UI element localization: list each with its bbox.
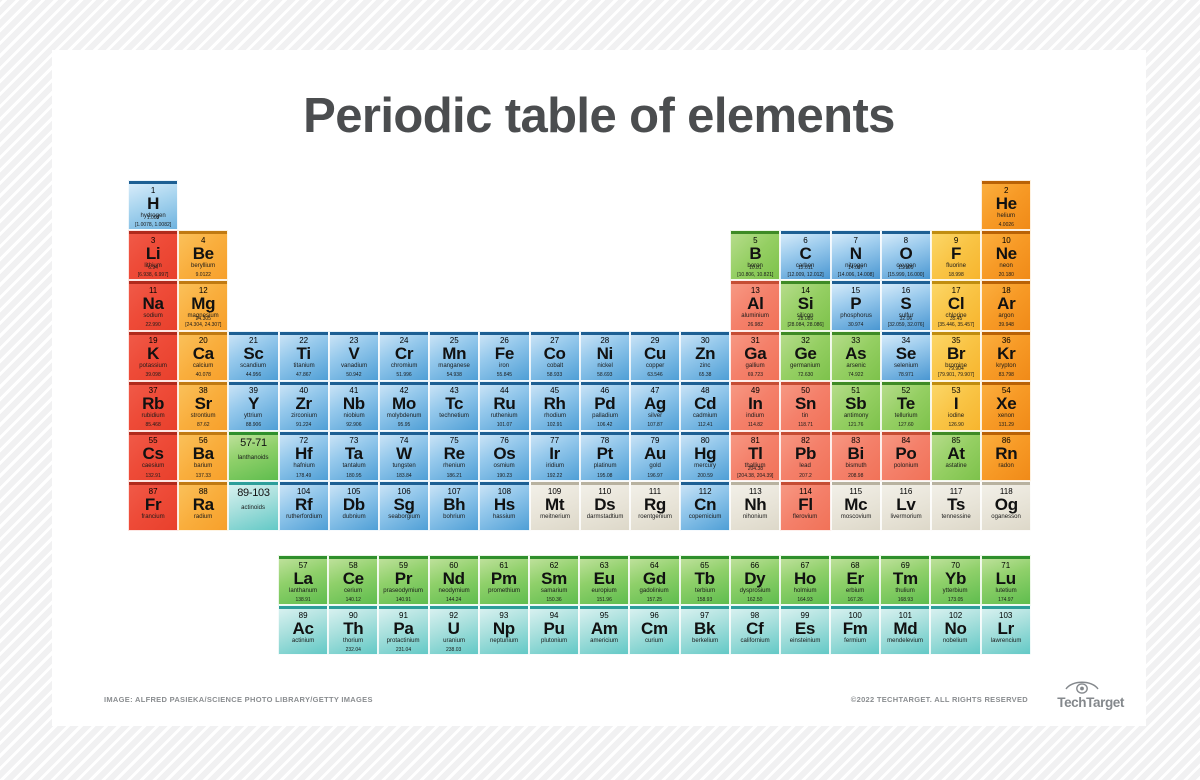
element-symbol: Sn bbox=[795, 395, 816, 412]
element-symbol: Ti bbox=[297, 345, 311, 362]
element-symbol: Rg bbox=[644, 496, 666, 513]
element-name: aluminium bbox=[732, 313, 778, 319]
standard-atomic-weight: 132.91 bbox=[129, 474, 177, 479]
standard-atomic-weight: 20.180 bbox=[982, 273, 1030, 278]
element-name: promethium bbox=[481, 588, 527, 594]
element-cell-Es[interactable]: 99Eseinsteinium bbox=[780, 605, 830, 655]
element-cell-Al[interactable]: 13Alaluminium26.982 bbox=[730, 280, 780, 330]
element-name: plutonium bbox=[531, 638, 577, 644]
standard-atomic-weight: 63.546 bbox=[631, 373, 679, 378]
element-cell-Ag[interactable]: 47Agsilver107.87 bbox=[630, 381, 680, 431]
element-symbol: Eu bbox=[594, 570, 615, 587]
element-cell-Tc[interactable]: 43Tctechnetium bbox=[429, 381, 479, 431]
element-symbol: Fr bbox=[145, 496, 161, 513]
element-name: zinc bbox=[682, 363, 728, 369]
element-symbol: Db bbox=[343, 496, 365, 513]
element-symbol: V bbox=[348, 345, 359, 362]
element-symbol: Rf bbox=[295, 496, 312, 513]
element-cell-Bh[interactable]: 107Bhbohrium bbox=[429, 481, 479, 531]
element-symbol: Bk bbox=[694, 620, 715, 637]
element-name: nobelium bbox=[932, 638, 978, 644]
element-cell-Hf[interactable]: 72Hfhafnium178.49 bbox=[279, 431, 329, 481]
standard-atomic-weight: 88.906 bbox=[229, 423, 277, 428]
element-name: caesium bbox=[130, 464, 176, 470]
element-symbol: Ge bbox=[794, 345, 816, 362]
element-symbol: Dy bbox=[744, 570, 765, 587]
element-cell-Tm[interactable]: 69Tmthulium168.93 bbox=[880, 555, 930, 605]
element-name: osmium bbox=[481, 464, 527, 470]
standard-atomic-weight: 173.05 bbox=[931, 598, 979, 603]
element-cell-Co[interactable]: 27Cocobalt58.933 bbox=[530, 331, 580, 381]
element-symbol: Ga bbox=[744, 345, 766, 362]
element-cell-Cr[interactable]: 24Crchromium51.996 bbox=[379, 331, 429, 381]
standard-atomic-weight: 195.08 bbox=[581, 474, 629, 479]
standard-atomic-weight: 51.996 bbox=[380, 373, 428, 378]
element-cell-Lr[interactable]: 103Lrlawrencium bbox=[981, 605, 1031, 655]
element-name: protactinium bbox=[380, 638, 426, 644]
element-cell-Hg[interactable]: 80Hgmercury200.59 bbox=[680, 431, 730, 481]
standard-atomic-weight: 126.90 bbox=[932, 423, 980, 428]
element-symbol: Fm bbox=[843, 620, 868, 637]
series-placeholder-actinoids[interactable]: 89-103actinoids bbox=[228, 481, 278, 531]
element-name: nickel bbox=[582, 363, 628, 369]
standard-atomic-weight: 200.59 bbox=[681, 474, 729, 479]
element-cell-Pa[interactable]: 91Paprotactinium231.04 bbox=[378, 605, 428, 655]
element-symbol: Ac bbox=[293, 620, 314, 637]
element-cell-P[interactable]: 15Pphosphorus30.974 bbox=[831, 280, 881, 330]
element-cell-Sc[interactable]: 21Scscandium44.956 bbox=[228, 331, 278, 381]
element-name: iron bbox=[481, 363, 527, 369]
element-cell-Sm[interactable]: 62Smsamarium150.36 bbox=[529, 555, 579, 605]
element-cell-Pr[interactable]: 59Prpraseodymium140.91 bbox=[378, 555, 428, 605]
element-cell-K[interactable]: 19Kpotassium39.098 bbox=[128, 331, 178, 381]
element-cell-Zn[interactable]: 30Znzinc65.38 bbox=[680, 331, 730, 381]
atomic-weight-interval: [79.901, 79.907] bbox=[932, 373, 980, 378]
element-cell-Sr[interactable]: 38Srstrontium87.62 bbox=[178, 381, 228, 431]
atomic-number-range: 89-103 bbox=[237, 488, 269, 499]
standard-atomic-weight: 150.36 bbox=[530, 598, 578, 603]
element-cell-Y[interactable]: 39Yyttrium88.906 bbox=[228, 381, 278, 431]
element-cell-Rh[interactable]: 45Rhrhodium102.91 bbox=[530, 381, 580, 431]
element-cell-Si[interactable]: 14Sisilicon28.085[28.084, 28.086] bbox=[780, 280, 830, 330]
element-name: erbium bbox=[832, 588, 878, 594]
element-cell-In[interactable]: 49Inindium114.82 bbox=[730, 381, 780, 431]
element-name: fluorine bbox=[933, 263, 979, 269]
element-symbol: Li bbox=[146, 245, 161, 262]
element-cell-Rn[interactable]: 86Rnradon bbox=[981, 431, 1031, 481]
element-cell-Mt[interactable]: 109Mtmeitnerium bbox=[530, 481, 580, 531]
element-symbol: Tl bbox=[748, 445, 763, 462]
element-symbol: Po bbox=[895, 445, 916, 462]
element-cell-Og[interactable]: 118Ogoganesson bbox=[981, 481, 1031, 531]
element-cell-Nh[interactable]: 113Nhnihonium bbox=[730, 481, 780, 531]
element-cell-Br[interactable]: 35Brbromine79.904[79.901, 79.907] bbox=[931, 331, 981, 381]
element-symbol: Na bbox=[143, 295, 164, 312]
element-name: holmium bbox=[782, 588, 828, 594]
element-cell-Np[interactable]: 93Npneptunium bbox=[479, 605, 529, 655]
element-cell-Fm[interactable]: 100Fmfermium bbox=[830, 605, 880, 655]
element-name: terbium bbox=[681, 588, 727, 594]
element-symbol: Pm bbox=[491, 570, 517, 587]
element-name: mercury bbox=[682, 464, 728, 470]
element-symbol: Ar bbox=[997, 295, 1015, 312]
element-cell-Se[interactable]: 34Seselenium78.971 bbox=[881, 331, 931, 381]
element-name: thorium bbox=[330, 638, 376, 644]
element-cell-At[interactable]: 85Atastatine bbox=[931, 431, 981, 481]
element-cell-Ds[interactable]: 110Dsdarmstadtium bbox=[580, 481, 630, 531]
element-cell-Fl[interactable]: 114Flflerovium bbox=[780, 481, 830, 531]
element-cell-Te[interactable]: 52Tetellurium127.60 bbox=[881, 381, 931, 431]
standard-atomic-weight: 204.38 bbox=[731, 467, 779, 472]
element-symbol: F bbox=[951, 245, 961, 262]
element-symbol: Kr bbox=[997, 345, 1015, 362]
element-cell-Pt[interactable]: 78Ptplatinum195.08 bbox=[580, 431, 630, 481]
element-cell-Eu[interactable]: 63Eueuropium151.96 bbox=[579, 555, 629, 605]
element-symbol: Y bbox=[248, 395, 259, 412]
element-cell-Bi[interactable]: 83Bibismuth208.98 bbox=[831, 431, 881, 481]
element-symbol: Sg bbox=[393, 496, 414, 513]
standard-atomic-weight: 144.24 bbox=[430, 598, 478, 603]
element-name: yttrium bbox=[230, 413, 276, 419]
standard-atomic-weight: 158.93 bbox=[681, 598, 729, 603]
element-symbol: Hg bbox=[694, 445, 716, 462]
element-name: radon bbox=[983, 464, 1029, 470]
standard-atomic-weight: 83.798 bbox=[982, 373, 1030, 378]
atomic-weight-interval: [28.084, 28.086] bbox=[781, 323, 829, 328]
element-cell-Yb[interactable]: 70Ybytterbium173.05 bbox=[930, 555, 980, 605]
element-cell-Ti[interactable]: 22Tititanium47.867 bbox=[279, 331, 329, 381]
element-cell-Ra[interactable]: 88Raradium bbox=[178, 481, 228, 531]
element-cell-Rg[interactable]: 111Rgroentgenium bbox=[630, 481, 680, 531]
atomic-weight-interval: [14.006, 14.008] bbox=[832, 273, 880, 278]
element-cell-He[interactable]: 2Hehelium4.0026 bbox=[981, 180, 1031, 230]
element-name: rubidium bbox=[130, 413, 176, 419]
element-cell-W[interactable]: 74Wtungsten183.84 bbox=[379, 431, 429, 481]
element-cell-Ni[interactable]: 28Ninickel58.693 bbox=[580, 331, 630, 381]
element-name: francium bbox=[130, 514, 176, 520]
element-name: actinium bbox=[280, 638, 326, 644]
element-symbol: Cu bbox=[644, 345, 666, 362]
element-name: dubnium bbox=[331, 514, 377, 520]
element-symbol: Cl bbox=[948, 295, 964, 312]
standard-atomic-weight: 78.971 bbox=[882, 373, 930, 378]
element-cell-Rf[interactable]: 104Rfrutherfordium bbox=[279, 481, 329, 531]
element-symbol: Ag bbox=[644, 395, 666, 412]
standard-atomic-weight: 85.468 bbox=[129, 423, 177, 428]
element-symbol: Os bbox=[493, 445, 515, 462]
element-name: calcium bbox=[180, 363, 226, 369]
standard-atomic-weight: 167.26 bbox=[831, 598, 879, 603]
element-cell-Xe[interactable]: 54Xexenon131.29 bbox=[981, 381, 1031, 431]
element-symbol: Ba bbox=[193, 445, 214, 462]
standard-atomic-weight: 50.942 bbox=[330, 373, 378, 378]
element-cell-B[interactable]: 5Bboron10.81[10.806, 10.821] bbox=[730, 230, 780, 280]
element-cell-Lu[interactable]: 71Lulutetium174.97 bbox=[981, 555, 1031, 605]
element-cell-Rb[interactable]: 37Rbrubidium85.468 bbox=[128, 381, 178, 431]
element-cell-Sn[interactable]: 50Sntin118.71 bbox=[780, 381, 830, 431]
element-name: manganese bbox=[431, 363, 477, 369]
series-label: lanthanoids bbox=[230, 455, 276, 461]
element-symbol: Pr bbox=[395, 570, 412, 587]
element-name: einsteinium bbox=[782, 638, 828, 644]
element-cell-Er[interactable]: 68Ererbium167.26 bbox=[830, 555, 880, 605]
element-cell-Ar[interactable]: 18Arargon39.948 bbox=[981, 280, 1031, 330]
element-cell-Sb[interactable]: 51Sbantimony121.76 bbox=[831, 381, 881, 431]
element-symbol: Mt bbox=[545, 496, 564, 513]
standard-atomic-weight: 208.98 bbox=[832, 474, 880, 479]
element-cell-Ne[interactable]: 10Neneon20.180 bbox=[981, 230, 1031, 280]
element-cell-N[interactable]: 7Nnitrogen14.007[14.006, 14.008] bbox=[831, 230, 881, 280]
element-cell-Ce[interactable]: 58Cecerium140.12 bbox=[328, 555, 378, 605]
element-cell-Bk[interactable]: 97Bkberkelium bbox=[680, 605, 730, 655]
element-name: radium bbox=[180, 514, 226, 520]
element-cell-Pd[interactable]: 46Pdpalladium106.42 bbox=[580, 381, 630, 431]
element-cell-I[interactable]: 53Iiodine126.90 bbox=[931, 381, 981, 431]
element-name: samarium bbox=[531, 588, 577, 594]
element-symbol: In bbox=[748, 395, 763, 412]
standard-atomic-weight: 91.224 bbox=[280, 423, 328, 428]
element-name: antimony bbox=[833, 413, 879, 419]
element-cell-Po[interactable]: 84Popolonium bbox=[881, 431, 931, 481]
element-symbol: H bbox=[147, 195, 159, 212]
standard-atomic-weight: 114.82 bbox=[731, 423, 779, 428]
element-cell-Ca[interactable]: 20Cacalcium40.078 bbox=[178, 331, 228, 381]
element-symbol: Te bbox=[897, 395, 915, 412]
element-symbol: Mc bbox=[844, 496, 867, 513]
element-name: selenium bbox=[883, 363, 929, 369]
standard-atomic-weight: 6.94 bbox=[129, 266, 177, 271]
element-cell-Tb[interactable]: 65Tbterbium158.93 bbox=[680, 555, 730, 605]
element-cell-Tl[interactable]: 81Tlthallium204.38[204.38, 204.39] bbox=[730, 431, 780, 481]
element-cell-Ac[interactable]: 89Acactinium bbox=[278, 605, 328, 655]
element-cell-Cs[interactable]: 55Cscaesium132.91 bbox=[128, 431, 178, 481]
element-name: rutherfordium bbox=[281, 514, 327, 520]
element-cell-Ru[interactable]: 44Ruruthenium101.07 bbox=[479, 381, 529, 431]
element-symbol: Pb bbox=[795, 445, 816, 462]
element-symbol: N bbox=[850, 245, 862, 262]
standard-atomic-weight: 106.42 bbox=[581, 423, 629, 428]
element-symbol: Md bbox=[893, 620, 917, 637]
standard-atomic-weight: 112.41 bbox=[681, 423, 729, 428]
element-symbol: Gd bbox=[643, 570, 666, 587]
element-cell-Pm[interactable]: 61Pmpromethium bbox=[479, 555, 529, 605]
element-symbol: Ds bbox=[594, 496, 615, 513]
element-cell-Th[interactable]: 90Ththorium232.04 bbox=[328, 605, 378, 655]
element-name: lanthanum bbox=[280, 588, 326, 594]
standard-atomic-weight: 24.305 bbox=[179, 317, 227, 322]
element-name: phosphorus bbox=[833, 313, 879, 319]
standard-atomic-weight: 14.007 bbox=[832, 266, 880, 271]
element-cell-V[interactable]: 23Vvanadium50.942 bbox=[329, 331, 379, 381]
element-cell-Md[interactable]: 101Mdmendelevium bbox=[880, 605, 930, 655]
standard-atomic-weight: 35.45 bbox=[932, 317, 980, 322]
element-symbol: Zn bbox=[695, 345, 715, 362]
element-cell-U[interactable]: 92Uuranium238.03 bbox=[429, 605, 479, 655]
standard-atomic-weight: 92.906 bbox=[330, 423, 378, 428]
atomic-weight-interval: [1.0078, 1.0082] bbox=[129, 223, 177, 228]
element-cell-Kr[interactable]: 36Krkrypton83.798 bbox=[981, 331, 1031, 381]
element-symbol: Cr bbox=[395, 345, 413, 362]
element-cell-Cu[interactable]: 29Cucopper63.546 bbox=[630, 331, 680, 381]
standard-atomic-weight: 30.974 bbox=[832, 323, 880, 328]
standard-atomic-weight: 28.085 bbox=[781, 317, 829, 322]
element-name: fermium bbox=[832, 638, 878, 644]
standard-atomic-weight: 44.956 bbox=[229, 373, 277, 378]
element-cell-Cd[interactable]: 48Cdcadmium112.41 bbox=[680, 381, 730, 431]
element-cell-Lv[interactable]: 116Lvlivermorium bbox=[881, 481, 931, 531]
element-cell-Cl[interactable]: 17Clchlorine35.45[35.446, 35.457] bbox=[931, 280, 981, 330]
element-name: indium bbox=[732, 413, 778, 419]
element-cell-Ge[interactable]: 32Gegermanium72.630 bbox=[780, 331, 830, 381]
element-cell-La[interactable]: 57Lalanthanum138.91 bbox=[278, 555, 328, 605]
element-symbol: Sb bbox=[845, 395, 866, 412]
element-name: arsenic bbox=[833, 363, 879, 369]
element-symbol: S bbox=[900, 295, 911, 312]
element-name: thulium bbox=[882, 588, 928, 594]
standard-atomic-weight: 238.03 bbox=[430, 648, 478, 653]
element-cell-F[interactable]: 9Ffluorine18.998 bbox=[931, 230, 981, 280]
element-cell-C[interactable]: 6Ccarbon12.011[12.009, 12.012] bbox=[780, 230, 830, 280]
standard-atomic-weight: 118.71 bbox=[781, 423, 829, 428]
element-cell-Am[interactable]: 95Amamericium bbox=[579, 605, 629, 655]
element-name: americium bbox=[581, 638, 627, 644]
element-cell-Dy[interactable]: 66Dydysprosium162.50 bbox=[730, 555, 780, 605]
element-cell-Ta[interactable]: 73Tatantalum180.95 bbox=[329, 431, 379, 481]
element-cell-Ga[interactable]: 31Gagallium69.723 bbox=[730, 331, 780, 381]
element-cell-Be[interactable]: 4Beberyllium9.0122 bbox=[178, 230, 228, 280]
element-symbol: Ta bbox=[345, 445, 363, 462]
element-symbol: Br bbox=[947, 345, 965, 362]
element-cell-Gd[interactable]: 64Gdgadolinium157.25 bbox=[629, 555, 679, 605]
element-cell-No[interactable]: 102Nonobelium bbox=[930, 605, 980, 655]
element-cell-Fe[interactable]: 26Feiron55.845 bbox=[479, 331, 529, 381]
standard-atomic-weight: 131.29 bbox=[982, 423, 1030, 428]
element-symbol: Mg bbox=[191, 295, 215, 312]
element-cell-As[interactable]: 33Asarsenic74.922 bbox=[831, 331, 881, 381]
element-name: polonium bbox=[883, 464, 929, 470]
standard-atomic-weight: 32.06 bbox=[882, 317, 930, 322]
element-symbol: Np bbox=[493, 620, 515, 637]
element-symbol: Sm bbox=[541, 570, 567, 587]
element-symbol: Cd bbox=[694, 395, 716, 412]
standard-atomic-weight: 140.12 bbox=[329, 598, 377, 603]
element-cell-Au[interactable]: 79Augold196.97 bbox=[630, 431, 680, 481]
element-cell-Db[interactable]: 105Dbdubnium bbox=[329, 481, 379, 531]
element-cell-O[interactable]: 8Ooxygen15.999[15.999, 16.000] bbox=[881, 230, 931, 280]
element-cell-Ho[interactable]: 67Hoholmium164.93 bbox=[780, 555, 830, 605]
series-placeholder-lanthanoids[interactable]: 57-71lanthanoids bbox=[228, 431, 278, 481]
standard-atomic-weight: 180.95 bbox=[330, 474, 378, 479]
element-cell-Cn[interactable]: 112Cncopernicium bbox=[680, 481, 730, 531]
element-cell-Nb[interactable]: 41Nbniobium92.906 bbox=[329, 381, 379, 431]
element-cell-H[interactable]: 1Hhydrogen1.008[1.0078, 1.0082] bbox=[128, 180, 178, 230]
element-name: barium bbox=[180, 464, 226, 470]
standard-atomic-weight: 72.630 bbox=[781, 373, 829, 378]
standard-atomic-weight: 15.999 bbox=[882, 266, 930, 271]
standard-atomic-weight: 18.998 bbox=[932, 273, 980, 278]
standard-atomic-weight: 178.49 bbox=[280, 474, 328, 479]
element-cell-Os[interactable]: 76Ososmium190.23 bbox=[479, 431, 529, 481]
element-cell-Cf[interactable]: 98Cfcalifornium bbox=[730, 605, 780, 655]
element-cell-Zr[interactable]: 40Zrzirconium91.224 bbox=[279, 381, 329, 431]
standard-atomic-weight: 1.008 bbox=[129, 216, 177, 221]
element-cell-Mo[interactable]: 42Momolybdenum95.95 bbox=[379, 381, 429, 431]
standard-atomic-weight: 121.76 bbox=[832, 423, 880, 428]
element-cell-Li[interactable]: 3Lilithium6.94[6.938, 6.997] bbox=[128, 230, 178, 280]
element-cell-Ir[interactable]: 77Iriridium192.22 bbox=[530, 431, 580, 481]
element-name: nihonium bbox=[732, 514, 778, 520]
element-name: hassium bbox=[481, 514, 527, 520]
element-cell-Ts[interactable]: 117Tstennessine bbox=[931, 481, 981, 531]
standard-atomic-weight: 39.098 bbox=[129, 373, 177, 378]
element-name: sodium bbox=[130, 313, 176, 319]
copyright-notice: ©2022 TECHTARGET. ALL RIGHTS RESERVED bbox=[851, 695, 1028, 704]
element-cell-Pu[interactable]: 94Puplutonium bbox=[529, 605, 579, 655]
element-cell-Ba[interactable]: 56Babarium137.33 bbox=[178, 431, 228, 481]
element-cell-Hs[interactable]: 108Hshassium bbox=[479, 481, 529, 531]
element-symbol: Re bbox=[444, 445, 465, 462]
element-symbol: Ne bbox=[996, 245, 1017, 262]
standard-atomic-weight: 58.693 bbox=[581, 373, 629, 378]
element-symbol: Fe bbox=[495, 345, 514, 362]
content-card: Periodic table of elements 1Hhydrogen1.0… bbox=[52, 50, 1146, 726]
element-symbol: Rn bbox=[995, 445, 1017, 462]
element-symbol: Sr bbox=[195, 395, 212, 412]
element-name: technetium bbox=[431, 413, 477, 419]
element-name: gadolinium bbox=[631, 588, 677, 594]
element-cell-Nd[interactable]: 60Ndneodymium144.24 bbox=[429, 555, 479, 605]
element-name: titanium bbox=[281, 363, 327, 369]
element-cell-Pb[interactable]: 82Pblead207.2 bbox=[780, 431, 830, 481]
standard-atomic-weight: 232.04 bbox=[329, 648, 377, 653]
element-cell-Sg[interactable]: 106Sgseaborgium bbox=[379, 481, 429, 531]
element-cell-Mc[interactable]: 115Mcmoscovium bbox=[831, 481, 881, 531]
element-name: beryllium bbox=[180, 263, 226, 269]
element-name: darmstadtium bbox=[582, 514, 628, 520]
standard-atomic-weight: 157.25 bbox=[630, 598, 678, 603]
standard-atomic-weight: 151.96 bbox=[580, 598, 628, 603]
atomic-weight-interval: [35.446, 35.457] bbox=[932, 323, 980, 328]
element-name: uranium bbox=[431, 638, 477, 644]
element-cell-Mg[interactable]: 12Mgmagnesium24.305[24.304, 24.307] bbox=[178, 280, 228, 330]
element-symbol: Rb bbox=[142, 395, 164, 412]
standard-atomic-weight: 22.990 bbox=[129, 323, 177, 328]
element-cell-Fr[interactable]: 87Frfrancium bbox=[128, 481, 178, 531]
element-cell-Mn[interactable]: 25Mnmanganese54.938 bbox=[429, 331, 479, 381]
element-symbol: Xe bbox=[996, 395, 1016, 412]
element-symbol: Ce bbox=[343, 570, 364, 587]
techtarget-wordmark: TechTarget bbox=[1057, 695, 1124, 710]
element-cell-Cm[interactable]: 96Cmcurium bbox=[629, 605, 679, 655]
standard-atomic-weight: 47.867 bbox=[280, 373, 328, 378]
element-cell-Re[interactable]: 75Rerhenium186.21 bbox=[429, 431, 479, 481]
element-symbol: Cn bbox=[694, 496, 716, 513]
element-name: curium bbox=[631, 638, 677, 644]
eye-icon bbox=[1065, 678, 1099, 694]
element-symbol: Si bbox=[798, 295, 813, 312]
element-name: tin bbox=[782, 413, 828, 419]
standard-atomic-weight: 65.38 bbox=[681, 373, 729, 378]
element-cell-Na[interactable]: 11Nasodium22.990 bbox=[128, 280, 178, 330]
element-cell-S[interactable]: 16Ssulfur32.06[32.059, 32.076] bbox=[881, 280, 931, 330]
element-symbol: Pd bbox=[594, 395, 615, 412]
element-name: neptunium bbox=[481, 638, 527, 644]
standard-atomic-weight: 69.723 bbox=[731, 373, 779, 378]
element-name: rhenium bbox=[431, 464, 477, 470]
element-name: oganesson bbox=[983, 514, 1029, 520]
standard-atomic-weight: 101.07 bbox=[480, 423, 528, 428]
element-symbol: Nh bbox=[744, 496, 766, 513]
